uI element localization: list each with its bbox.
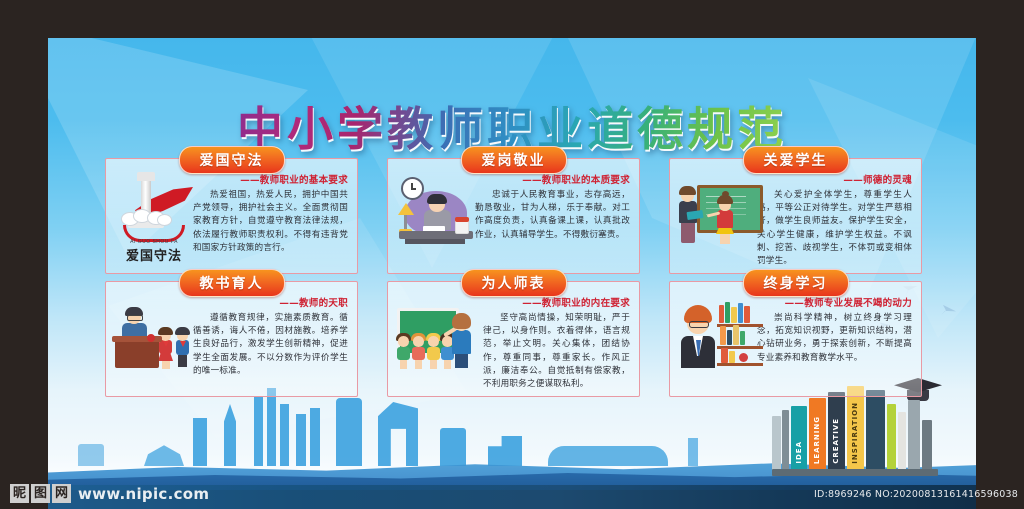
card-illustration-role-model [397, 298, 483, 390]
card-subtitle: ——教师职业的本质要求 [475, 175, 630, 187]
card-teaching-and-nurturing[interactable]: 教书育人 [105, 281, 358, 397]
card-heading: 关爱学生 [743, 146, 849, 174]
poster-canvas: IDEA LEARNING CREATIVE INSPIRATION 中小学教师… [48, 38, 976, 490]
card-subtitle: ——教师职业的基本要求 [193, 175, 348, 187]
card-patriotism[interactable]: 爱国守法 AI GUO SHOU FA 爱国守法 [105, 158, 358, 274]
book-spine-label: LEARNING [813, 416, 821, 464]
cards-grid: 爱国守法 AI GUO SHOU FA 爱国守法 [105, 158, 923, 397]
card-subtitle: ——教师职业的内在要求 [483, 298, 630, 310]
card-body: 忠诚于人民教育事业，志存高远，勤恳敬业，甘为人梯，乐于奉献。对工作高度负责，认真… [475, 189, 630, 242]
apple-icon [739, 353, 748, 362]
card-body: 崇尚科学精神，树立终身学习理念，拓宽知识视野，更新知识结构，潜心钻研业务，勇于探… [757, 312, 912, 365]
card-heading: 爱岗敬业 [461, 146, 567, 174]
card-dedication[interactable]: 爱岗敬业 [387, 158, 640, 274]
glasses-icon [689, 321, 709, 328]
card-body: 坚守高尚情操，知荣明耻，严于律己，以身作则。衣着得体，语言规范，举止文明。关心集… [483, 312, 630, 391]
card-role-model[interactable]: 为人师表 [387, 281, 640, 397]
card-illustration-care [679, 175, 757, 267]
poster-root: IDEA LEARNING CREATIVE INSPIRATION 中小学教师… [0, 0, 1024, 509]
clock-icon [401, 177, 424, 200]
apple-icon [147, 334, 155, 342]
card-illustration-patriotism: AI GUO SHOU FA 爱国守法 [115, 175, 193, 267]
card-heading: 教书育人 [179, 269, 285, 297]
card-illustration-lifelong-learning [679, 298, 757, 390]
card-heading: 为人师表 [461, 269, 567, 297]
emblem-calligraphy: 爱国守法 [115, 245, 193, 264]
card-care-for-students[interactable]: 关爱学生 [669, 158, 922, 274]
bookshelf-icon [717, 302, 763, 366]
cards-row-top: 爱国守法 AI GUO SHOU FA 爱国守法 [105, 158, 923, 274]
card-illustration-teaching [115, 298, 193, 390]
card-body: 关心爱护全体学生，尊重学生人格，平等公正对待学生。对学生严慈相济，做学生良师益友… [757, 189, 912, 268]
book-spine-label: IDEA [795, 441, 803, 464]
card-lifelong-learning[interactable]: 终身学习 [669, 281, 922, 397]
card-body: 热爱祖国，热爱人民，拥护中国共产党领导，拥护社会主义。全面贯彻国家教育方针，自觉… [193, 189, 348, 255]
card-subtitle: ——师德的灵魂 [757, 175, 912, 187]
card-heading: 终身学习 [743, 269, 849, 297]
card-heading: 爱国守法 [179, 146, 285, 174]
card-subtitle: ——教师的天职 [193, 298, 348, 310]
card-subtitle: ——教师专业发展不竭的动力 [757, 298, 912, 310]
cards-row-bottom: 教书育人 [105, 281, 923, 397]
card-illustration-dedication [397, 175, 475, 267]
book-spine-label: INSPIRATION [851, 402, 859, 464]
glasses-icon [127, 315, 143, 321]
card-body: 遵循教育规律，实施素质教育。循循善诱，诲人不倦，因材施教。培养学生良好品行，激发… [193, 312, 348, 378]
book-spine-label: CREATIVE [832, 418, 840, 464]
